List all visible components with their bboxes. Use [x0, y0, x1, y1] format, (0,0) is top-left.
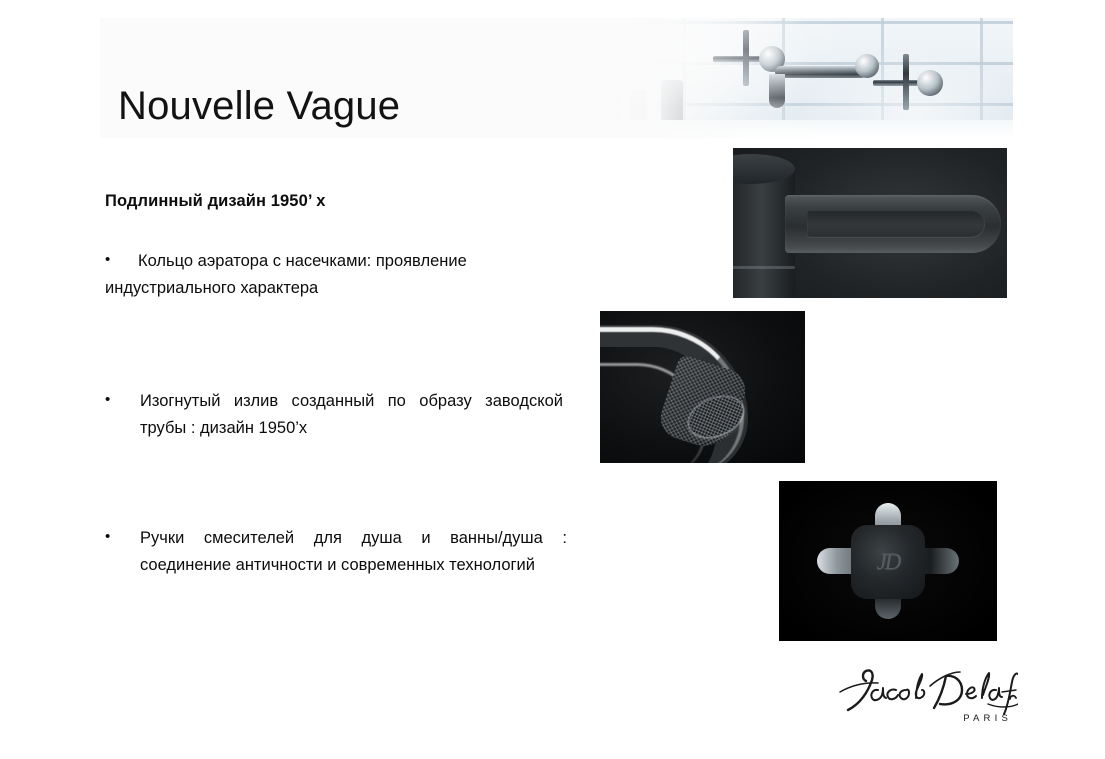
jd-monogram: JD: [871, 545, 905, 579]
slide: Nouvelle Vague Подлинный дизайн 1950’ х …: [0, 0, 1105, 759]
photo-fade-overlay: [593, 18, 1013, 138]
list-item: • Ручки смесителей для душа и ванны/душа…: [105, 525, 567, 578]
jacob-delafon-signature-icon: [838, 664, 1018, 716]
product-image-curved-spout: [600, 311, 805, 463]
bullet-glyph: •: [105, 388, 123, 412]
bullet-text: Ручки смесителей для душа и ванны/душа :…: [105, 525, 567, 578]
handle-body-ring: [733, 266, 795, 269]
bullet-glyph: •: [105, 248, 123, 272]
logo-city-label: PARIS: [963, 713, 1012, 724]
bullet-text: Изогнутый излив созданный по образу заво…: [105, 388, 563, 441]
bullet-text: Кольцо аэратора с насечками: проявление …: [105, 248, 545, 301]
header-photo: [593, 18, 1013, 138]
product-image-cross-handle: JD: [779, 481, 997, 641]
bullet-glyph: •: [105, 525, 123, 549]
page-title: Nouvelle Vague: [118, 84, 400, 129]
lever-groove: [807, 210, 985, 238]
list-item: • Изогнутый излив созданный по образу за…: [105, 388, 563, 441]
section-subtitle: Подлинный дизайн 1950’ х: [105, 192, 326, 211]
product-image-black-lever-handle: [733, 148, 1007, 298]
list-item: • Кольцо аэратора с насечками: проявлени…: [105, 248, 545, 301]
brand-logo: PARIS: [838, 664, 1018, 726]
